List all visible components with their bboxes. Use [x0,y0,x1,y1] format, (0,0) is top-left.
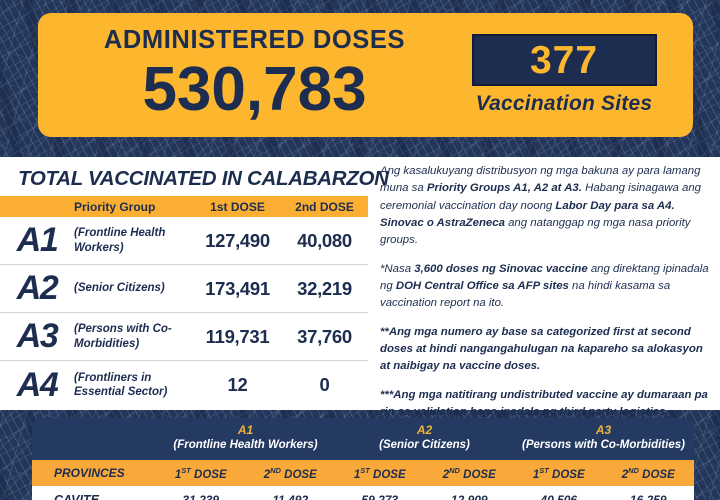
dose-header: 1ST DOSE [156,466,246,481]
header-first-dose: 1st DOSE [194,200,281,214]
note-undistributed-validation: ***Ang mga natitirang undistributed vacc… [380,387,712,422]
row-second-dose: 32,219 [281,278,368,300]
group-name: (Persons with Co-Morbidities) [514,438,693,452]
group-header-spacer [32,418,156,460]
table-row: A4 (Frontliners in Essential Sector) 12 … [0,361,368,409]
header-priority-group: Priority Group [62,200,194,214]
row-code: A4 [0,366,74,405]
province-name: CAVITE [32,493,156,500]
note-sinovac-afp: *Nasa 3,600 doses ng Sinovac vaccine ang… [380,261,712,313]
vaccination-sites-block: 377 Vaccination Sites [443,34,693,116]
table-row: A3 (Persons with Co-Morbidities) 119,731… [0,313,368,361]
province-value: 16,259 [604,493,694,500]
vaccination-sites-box: 377 [472,34,657,86]
note-categorized-doses: **Ang mga numero ay base sa categorized … [380,324,712,376]
row-first-dose: 127,490 [194,230,281,252]
group-header-a1: A1 (Frontline Health Workers) [156,418,335,460]
row-first-dose: 12 [194,374,281,396]
province-value: 12,909 [425,493,515,500]
provinces-column-header: PROVINCES [32,466,156,480]
group-code: A3 [514,423,693,438]
table-header-row: Priority Group 1st DOSE 2nd DOSE [0,196,368,217]
province-value: 40,506 [514,493,604,500]
row-description: (Frontline Health Workers) [74,226,194,254]
row-first-dose: 173,491 [194,278,281,300]
group-code: A2 [335,423,514,438]
total-vaccinated-table: TOTAL VACCINATED IN CALABARZON Priority … [0,157,372,409]
dose-header: 2ND DOSE [246,466,336,481]
group-header-a2: A2 (Senior Citizens) [335,418,514,460]
row-description: (Frontliners in Essential Sector) [74,371,194,399]
dose-header: 2ND DOSE [604,466,694,481]
main-content-panel: TOTAL VACCINATED IN CALABARZON Priority … [0,157,720,410]
row-description: (Senior Citizens) [74,281,194,295]
group-header-a3: A3 (Persons with Co-Morbidities) [514,418,693,460]
row-first-dose: 119,731 [194,326,281,348]
row-description: (Persons with Co-Morbidities) [74,322,194,350]
row-second-dose: 37,760 [281,326,368,348]
vaccination-sites-value: 377 [530,41,598,80]
note-distribution: Ang kasalukuyang distribusyon ng mga bak… [380,163,712,250]
dose-header: 2ND DOSE [425,466,515,481]
row-code: A2 [0,269,74,308]
vaccination-sites-caption: Vaccination Sites [443,92,685,116]
group-name: (Senior Citizens) [335,438,514,452]
row-code: A3 [0,317,74,356]
province-table-group-header: A1 (Frontline Health Workers) A2 (Senior… [32,418,694,460]
group-name: (Frontline Health Workers) [156,438,335,452]
administered-doses-block: ADMINISTERED DOSES 530,783 [38,28,443,123]
row-second-dose: 40,080 [281,230,368,252]
row-second-dose: 0 [281,374,368,396]
province-value: 59,273 [335,493,425,500]
table-title: TOTAL VACCINATED IN CALABARZON [0,157,372,196]
administered-doses-label: ADMINISTERED DOSES [66,28,443,54]
province-table-dose-header: PROVINCES 1ST DOSE 2ND DOSE 1ST DOSE 2ND… [32,460,694,486]
header-summary-card: ADMINISTERED DOSES 530,783 377 Vaccinati… [38,13,693,137]
province-value: 31,239 [156,493,246,500]
dose-header: 1ST DOSE [514,466,604,481]
province-table-row: CAVITE 31,239 11,492 59,273 12,909 40,50… [32,486,694,500]
notes-block: Ang kasalukuyang distribusyon ng mga bak… [380,163,712,432]
province-value: 11,492 [246,493,336,500]
table-row: A1 (Frontline Health Workers) 127,490 40… [0,217,368,265]
administered-doses-value: 530,783 [66,57,443,122]
group-code: A1 [156,423,335,438]
row-code: A1 [0,221,74,260]
province-breakdown-table: A1 (Frontline Health Workers) A2 (Senior… [32,418,694,500]
header-second-dose: 2nd DOSE [281,200,368,214]
table-row: A2 (Senior Citizens) 173,491 32,219 [0,265,368,313]
dose-header: 1ST DOSE [335,466,425,481]
